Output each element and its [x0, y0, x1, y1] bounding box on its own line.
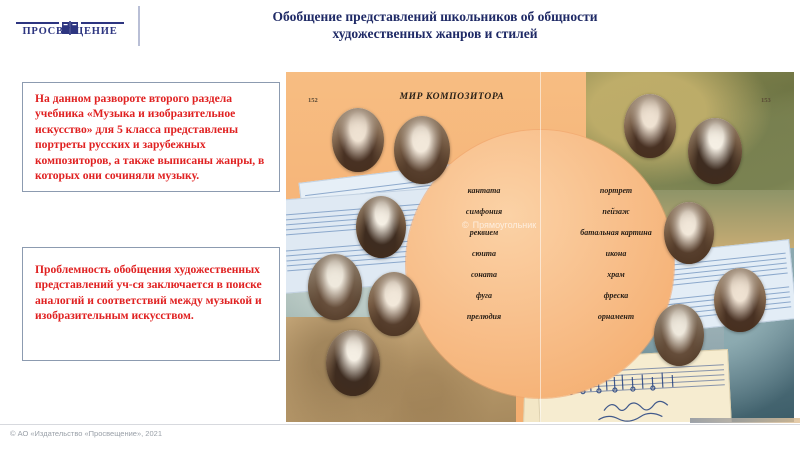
problem-card: Проблемность обобщения художественных пр… [22, 247, 280, 361]
music-genre-list: кантата симфония реквием сюита соната фу… [438, 180, 530, 327]
page-title-line-1: Обобщение представлений школьников об об… [200, 8, 670, 25]
logo-rule-left [16, 22, 59, 24]
music-genre-item: симфония [438, 201, 530, 222]
art-genre-item: пейзаж [570, 201, 662, 222]
footer-accent-bar [690, 418, 800, 423]
portrait-debussy [714, 268, 766, 332]
header-divider [138, 6, 140, 46]
music-genre-item: сюита [438, 243, 530, 264]
portrait-tchaikovsky [308, 254, 362, 320]
problem-card-text: Проблемность обобщения художественных пр… [23, 248, 279, 328]
page-number-left: 152 [308, 97, 318, 104]
art-genre-list: портрет пейзаж батальная картина икона х… [570, 180, 662, 327]
art-genre-item: портрет [570, 180, 662, 201]
music-genre-item: фуга [438, 285, 530, 306]
art-genre-item: орнамент [570, 306, 662, 327]
portrait-beethoven [688, 118, 742, 184]
music-genre-item: реквием [438, 222, 530, 243]
slide-header: ПРОСВЕЩЕНИЕ Обобщение представлений школ… [0, 0, 800, 62]
art-genre-item: икона [570, 243, 662, 264]
description-card: На данном развороте второго раздела учеб… [22, 82, 280, 192]
music-genre-item: кантата [438, 180, 530, 201]
publisher-logo: ПРОСВЕЩЕНИЕ [14, 8, 126, 48]
footer-divider [0, 424, 800, 425]
portrait-shostakovich [326, 330, 380, 396]
portrait-borodin [356, 196, 406, 258]
portrait-grieg [654, 304, 704, 366]
book-icon [61, 20, 79, 36]
copyright-notice: © АО «Издательство «Просвещение», 2021 [10, 429, 162, 438]
page-title-line-2: художественных жанров и стилей [200, 25, 670, 42]
description-card-text: На данном развороте второго раздела учеб… [23, 83, 279, 187]
spread-heading: МИР КОМПОЗИТОРА [372, 92, 532, 102]
art-genre-item: батальная картина [570, 222, 662, 243]
textbook-spread-image: ©Прямоугольник МИР КОМПОЗИТОРА 152 153 к… [286, 72, 794, 422]
art-genre-item: храм [570, 264, 662, 285]
page-title: Обобщение представлений школьников об об… [200, 8, 670, 42]
portrait-prokofiev [368, 272, 420, 336]
music-genre-item: прелюдия [438, 306, 530, 327]
page-number-right: 153 [761, 97, 771, 104]
portrait-rimsky-korsakov [394, 116, 450, 184]
portrait-musorgsky [332, 108, 384, 172]
music-genre-item: соната [438, 264, 530, 285]
spread-gutter-line [540, 72, 541, 422]
portrait-paganini [664, 202, 714, 264]
art-genre-item: фреска [570, 285, 662, 306]
portrait-bach [624, 94, 676, 158]
logo-rule-right [81, 22, 124, 24]
